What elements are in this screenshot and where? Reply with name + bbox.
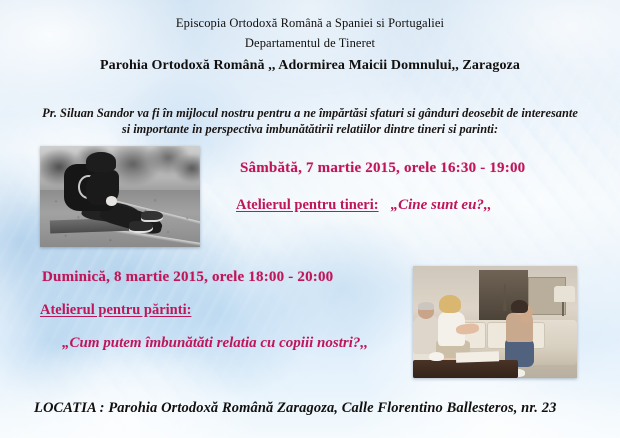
header-diocese-line: Episcopia Ortodoxă Română a Spaniei si P… xyxy=(0,16,620,31)
sunday-date: Duminică, 8 martie 2015, orele 18:00 - 2… xyxy=(42,269,333,286)
sunday-workshop-title: „Cum putem îmbunătăti relatia cu copiii … xyxy=(62,335,368,352)
youth-photo-shoe xyxy=(129,221,153,233)
youth-photo-shoe xyxy=(141,211,163,223)
saturday-workshop-title: „Cine sunt eu?,, xyxy=(391,197,492,213)
event-poster: Episcopia Ortodoxă Română a Spaniei si P… xyxy=(0,0,620,438)
family-photo-man-hair xyxy=(418,302,434,310)
family-photo-lamp-shade xyxy=(554,286,575,302)
saturday-workshop-label: Atelierul pentru tineri: xyxy=(236,197,379,213)
intro-line-1: Pr. Siluan Sandor va fi în mijlocul nost… xyxy=(18,105,602,121)
family-photo-lamp-stem xyxy=(562,301,564,317)
saturday-workshop: Atelierul pentru tineri:„Cine sunt eu?,, xyxy=(236,196,491,214)
family-photo-coffee-table xyxy=(413,360,518,378)
family-photo xyxy=(413,266,577,378)
family-photo-woman-hair xyxy=(439,295,460,313)
saturday-date: Sâmbătă, 7 martie 2015, orele 16:30 - 19… xyxy=(240,160,525,177)
intro-line-2: si importante in perspectiva imbunătătir… xyxy=(18,121,602,137)
family-photo-cup xyxy=(429,352,444,361)
header-parish-line: Parohia Ortodoxă Română ,, Adormirea Mai… xyxy=(0,58,620,74)
family-photo-teen-hair xyxy=(511,300,527,313)
youth-photo-hood xyxy=(86,152,116,172)
intro-paragraph: Pr. Siluan Sandor va fi în mijlocul nost… xyxy=(18,105,602,137)
sunday-workshop-label: Atelierul pentru părinti: xyxy=(40,302,191,319)
location-line: LOCATIA : Parohia Ortodoxă Română Zarago… xyxy=(34,400,556,417)
family-photo-papers xyxy=(455,352,498,364)
header-department-line: Departamentul de Tineret xyxy=(0,36,620,51)
youth-photo xyxy=(40,146,200,247)
youth-photo-figure xyxy=(56,152,155,241)
